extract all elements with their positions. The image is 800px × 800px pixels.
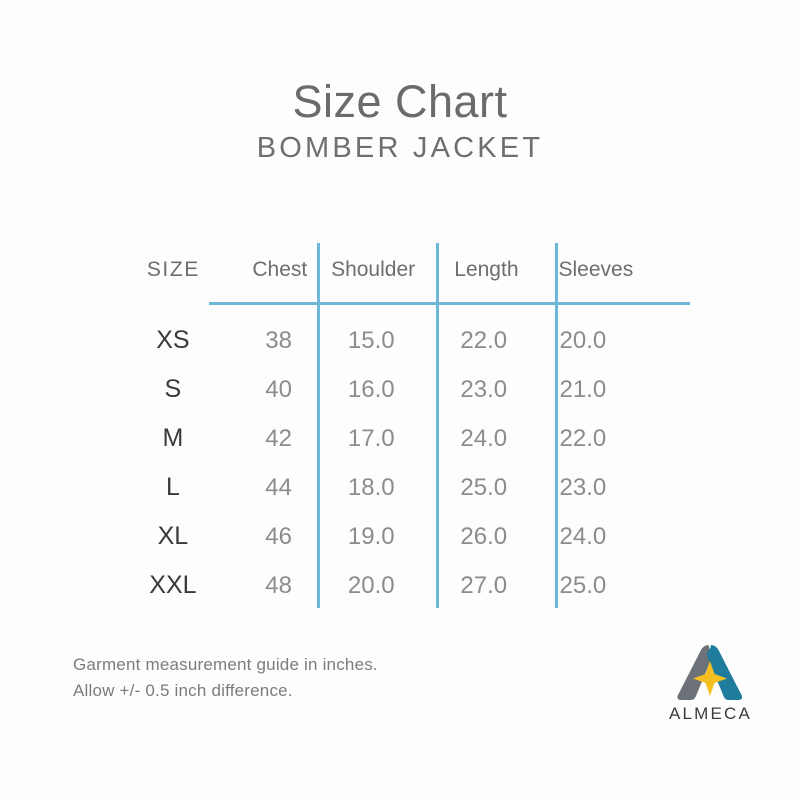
cell-sleeves: 25.0: [542, 572, 706, 600]
column-header-chest: Chest: [242, 258, 318, 282]
footnote-line-1: Garment measurement guide in inches.: [73, 652, 378, 678]
cell-shoulder: 19.0: [316, 523, 426, 551]
cell-size: S: [105, 375, 241, 404]
cell-chest: 40: [241, 376, 317, 404]
cell-size: XL: [105, 522, 241, 551]
cell-sleeves: 20.0: [542, 327, 706, 355]
brand-name: ALMECA: [653, 704, 768, 724]
cell-length: 25.0: [426, 474, 541, 502]
cell-size: XXL: [105, 571, 241, 600]
header-underline: [209, 302, 690, 305]
cell-size: XS: [105, 326, 241, 355]
table-row: M 42 17.0 24.0 22.0: [105, 414, 705, 463]
cell-size: L: [105, 473, 241, 502]
cell-length: 23.0: [426, 376, 541, 404]
column-header-length: Length: [428, 258, 544, 282]
cell-chest: 44: [241, 474, 317, 502]
cell-sleeves: 23.0: [542, 474, 706, 502]
cell-chest: 46: [241, 523, 317, 551]
cell-shoulder: 18.0: [316, 474, 426, 502]
cell-size: M: [105, 424, 241, 453]
brand-logo: ALMECA: [653, 643, 768, 724]
cell-chest: 42: [241, 425, 317, 453]
cell-sleeves: 22.0: [542, 425, 706, 453]
cell-sleeves: 24.0: [542, 523, 706, 551]
table-body: XS 38 15.0 22.0 20.0 S 40 16.0 23.0 21.0…: [105, 316, 705, 610]
cell-shoulder: 16.0: [316, 376, 426, 404]
almeca-a-mark-icon: [672, 643, 750, 701]
cell-length: 26.0: [426, 523, 541, 551]
size-table: SIZE Chest Shoulder Length Sleeves XS 38…: [105, 240, 705, 615]
footnote-line-2: Allow +/- 0.5 inch difference.: [73, 678, 378, 704]
cell-sleeves: 21.0: [542, 376, 706, 404]
cell-shoulder: 17.0: [316, 425, 426, 453]
table-header-row: SIZE Chest Shoulder Length Sleeves: [105, 240, 705, 300]
page-title: Size Chart: [0, 78, 800, 125]
cell-length: 22.0: [426, 327, 541, 355]
chart-header: Size Chart BOMBER JACKET: [0, 78, 800, 165]
cell-shoulder: 15.0: [316, 327, 426, 355]
cell-length: 24.0: [426, 425, 541, 453]
column-header-sleeves: Sleeves: [545, 258, 706, 282]
table-row: XXL 48 20.0 27.0 25.0: [105, 561, 705, 610]
cell-chest: 48: [241, 572, 317, 600]
table-row: S 40 16.0 23.0 21.0: [105, 365, 705, 414]
cell-shoulder: 20.0: [316, 572, 426, 600]
cell-length: 27.0: [426, 572, 541, 600]
size-chart-page: Size Chart BOMBER JACKET SIZE Chest Shou…: [0, 0, 800, 800]
footnote: Garment measurement guide in inches. All…: [73, 652, 378, 704]
cell-chest: 38: [241, 327, 317, 355]
column-header-size: SIZE: [105, 258, 242, 282]
column-header-shoulder: Shoulder: [318, 258, 428, 282]
table-row: XL 46 19.0 26.0 24.0: [105, 512, 705, 561]
table-row: L 44 18.0 25.0 23.0: [105, 463, 705, 512]
table-row: XS 38 15.0 22.0 20.0: [105, 316, 705, 365]
page-subtitle: BOMBER JACKET: [0, 132, 800, 165]
